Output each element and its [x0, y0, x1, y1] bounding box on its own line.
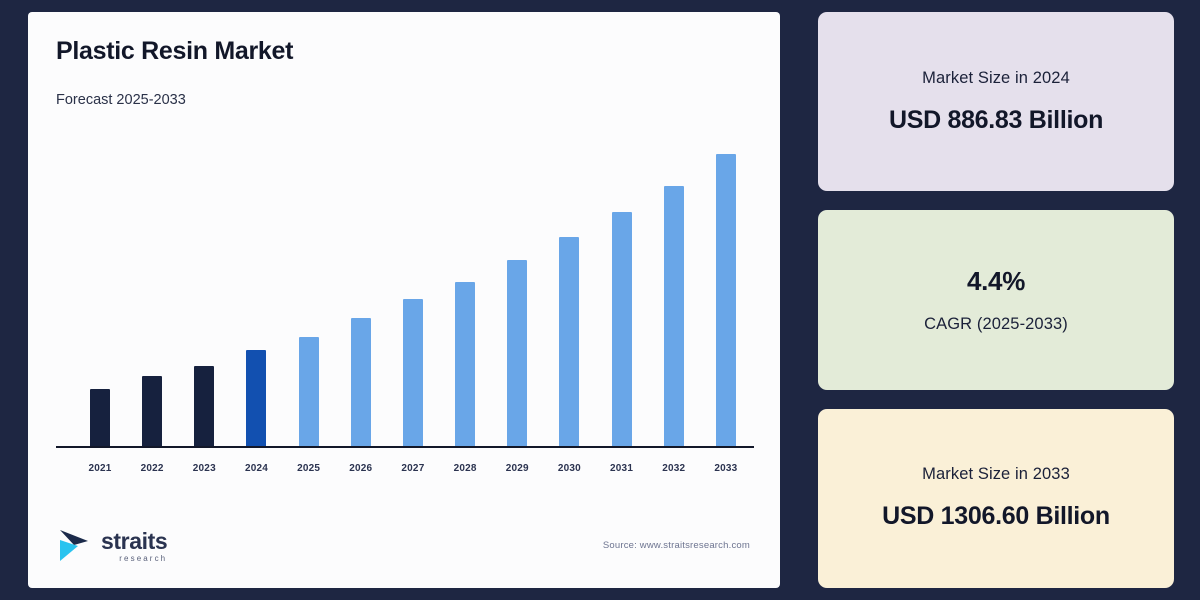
- stat-card-label: CAGR (2025-2033): [924, 315, 1068, 334]
- stat-card-value: USD 1306.60 Billion: [882, 502, 1110, 531]
- stat-cards-column: Market Size in 2024USD 886.83 Billion4.4…: [818, 12, 1176, 588]
- bar: [507, 260, 527, 447]
- straits-arrow-icon: [58, 528, 92, 564]
- bar-slot: [74, 149, 126, 447]
- x-axis-tick-label: 2023: [178, 463, 230, 474]
- bar: [299, 337, 319, 447]
- bar-slot: [230, 149, 282, 447]
- stat-card: Market Size in 2033USD 1306.60 Billion: [818, 409, 1174, 588]
- bar: [664, 186, 684, 447]
- bar-slot: [543, 149, 595, 447]
- x-axis-tick-label: 2021: [74, 463, 126, 474]
- bar: [559, 237, 579, 447]
- x-axis-tick-label: 2026: [335, 463, 387, 474]
- page-title: Plastic Resin Market: [56, 38, 752, 66]
- chart-panel: Plastic Resin Market Forecast 2025-2033 …: [28, 12, 780, 588]
- bar-slot: [596, 149, 648, 447]
- bar-slot: [387, 149, 439, 447]
- bar: [194, 366, 214, 447]
- logo-text: straits research: [101, 530, 167, 563]
- x-axis-tick-label: 2030: [543, 463, 595, 474]
- x-axis-line: [56, 446, 754, 449]
- logo-tagline: research: [119, 555, 167, 563]
- bar-slot: [491, 149, 543, 447]
- x-axis-tick-label: 2022: [126, 463, 178, 474]
- bar-slot: [178, 149, 230, 447]
- bar: [716, 154, 736, 447]
- x-axis-tick-label: 2028: [439, 463, 491, 474]
- bar-slot: [335, 149, 387, 447]
- bar: [351, 318, 371, 447]
- brand-logo: straits research: [58, 528, 167, 564]
- stat-card-value: USD 886.83 Billion: [889, 106, 1103, 135]
- bar-slot: [648, 149, 700, 447]
- source-note: Source: www.straitsresearch.com: [603, 540, 750, 551]
- x-axis-tick-label: 2024: [230, 463, 282, 474]
- bar-slot: [126, 149, 178, 447]
- x-axis-tick-labels: 2021202220232024202520262027202820292030…: [74, 463, 752, 474]
- x-axis-tick-label: 2033: [700, 463, 752, 474]
- chart-subtitle: Forecast 2025-2033: [56, 92, 752, 108]
- bar: [455, 282, 475, 447]
- stat-card-label: Market Size in 2033: [922, 465, 1070, 484]
- logo-wordmark: straits: [101, 530, 167, 553]
- bar: [142, 376, 162, 447]
- stat-card-value: 4.4%: [967, 266, 1025, 297]
- stat-card: Market Size in 2024USD 886.83 Billion: [818, 12, 1174, 191]
- plot-area: 2021202220232024202520262027202820292030…: [56, 118, 752, 589]
- bar-slot: [439, 149, 491, 447]
- x-axis-tick-label: 2032: [648, 463, 700, 474]
- stat-card-label: Market Size in 2024: [922, 69, 1070, 88]
- x-axis-tick-label: 2025: [283, 463, 335, 474]
- bar: [246, 350, 266, 447]
- bar: [403, 299, 423, 447]
- bar-series: [74, 149, 752, 447]
- bar: [90, 389, 110, 447]
- bar: [612, 212, 632, 447]
- bar-slot: [283, 149, 335, 447]
- stat-card: 4.4%CAGR (2025-2033): [818, 210, 1174, 389]
- x-axis-tick-label: 2031: [596, 463, 648, 474]
- bar-slot: [700, 149, 752, 447]
- x-axis-tick-label: 2029: [491, 463, 543, 474]
- x-axis-tick-label: 2027: [387, 463, 439, 474]
